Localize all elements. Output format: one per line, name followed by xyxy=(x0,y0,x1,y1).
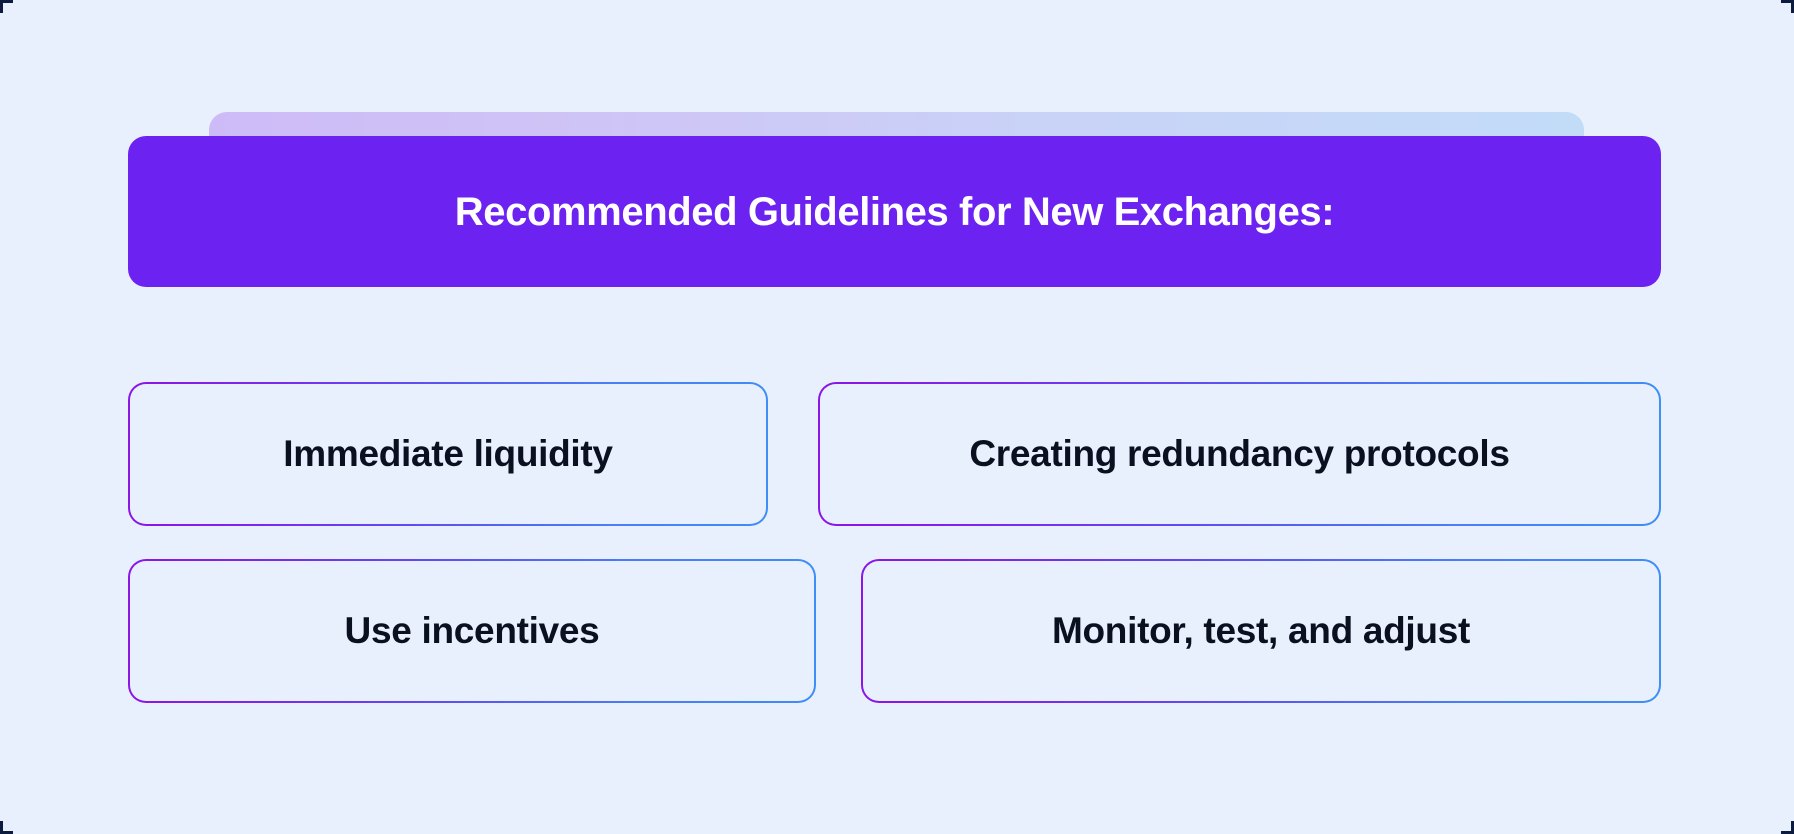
guideline-card-body: Monitor, test, and adjust xyxy=(863,561,1659,701)
crop-mark-bottom-left xyxy=(0,821,13,834)
guideline-card-monitor-test-and-adjust[interactable]: Monitor, test, and adjust xyxy=(861,559,1661,703)
guideline-card-body: Creating redundancy protocols xyxy=(820,384,1659,524)
guideline-card-label: Use incentives xyxy=(345,610,600,652)
crop-mark-top-left xyxy=(0,0,13,13)
crop-mark-bottom-right xyxy=(1781,821,1794,834)
guideline-card-label: Immediate liquidity xyxy=(283,433,612,475)
guidelines-row-1: Immediate liquidity Creating redundancy … xyxy=(128,382,1661,526)
guideline-card-body: Use incentives xyxy=(130,561,814,701)
guideline-card-immediate-liquidity[interactable]: Immediate liquidity xyxy=(128,382,768,526)
guideline-card-body: Immediate liquidity xyxy=(130,384,766,524)
banner-header: Recommended Guidelines for New Exchanges… xyxy=(128,136,1661,287)
guideline-card-creating-redundancy-protocols[interactable]: Creating redundancy protocols xyxy=(818,382,1661,526)
crop-mark-top-right xyxy=(1781,0,1794,13)
guideline-card-label: Creating redundancy protocols xyxy=(969,433,1509,475)
guidelines-card-grid: Immediate liquidity Creating redundancy … xyxy=(128,382,1661,703)
guideline-card-label: Monitor, test, and adjust xyxy=(1052,610,1470,652)
guidelines-row-2: Use incentives Monitor, test, and adjust xyxy=(128,559,1661,703)
page-title: Recommended Guidelines for New Exchanges… xyxy=(455,189,1334,235)
guideline-card-use-incentives[interactable]: Use incentives xyxy=(128,559,816,703)
guidelines-infographic: Recommended Guidelines for New Exchanges… xyxy=(0,0,1794,834)
